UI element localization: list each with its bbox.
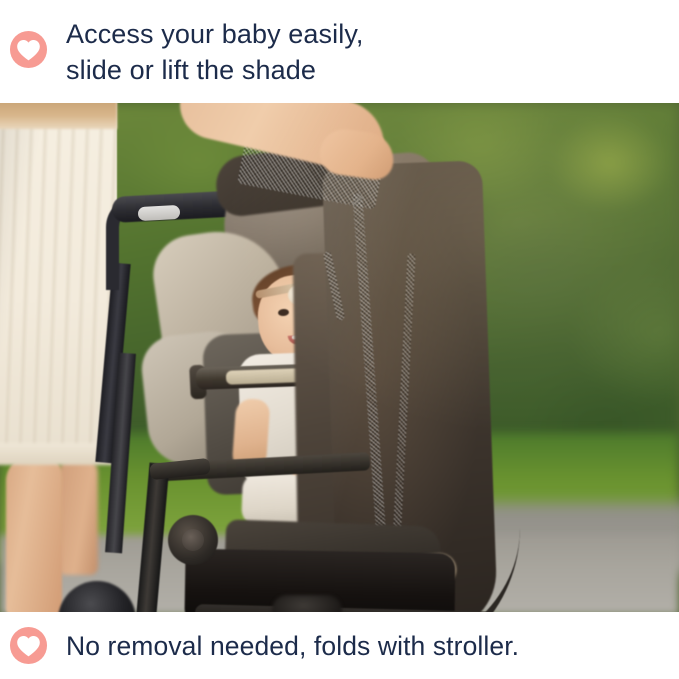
heart-in-circle-icon <box>9 626 48 665</box>
stroller-wheel-rear <box>272 595 342 612</box>
stroller-frame-arc <box>190 528 520 612</box>
stroller-fold-hub-center <box>182 529 204 551</box>
product-lifestyle-photo <box>0 103 679 612</box>
feature-banner-bottom: No removal needed, folds with stroller. <box>0 612 679 679</box>
product-feature-image: Access your baby easily, slide or lift t… <box>0 0 679 679</box>
feature-banner-top-text: Access your baby easily, slide or lift t… <box>66 16 364 88</box>
feature-banner-bottom-text: No removal needed, folds with stroller. <box>66 631 519 661</box>
mother-leg-back <box>58 455 98 575</box>
stroller-handle-grip <box>138 205 181 221</box>
heart-in-circle-icon <box>9 30 48 69</box>
mother-belt <box>0 103 117 129</box>
feature-banner-top: Access your baby easily, slide or lift t… <box>0 0 679 103</box>
mother-leg-front <box>6 455 62 612</box>
